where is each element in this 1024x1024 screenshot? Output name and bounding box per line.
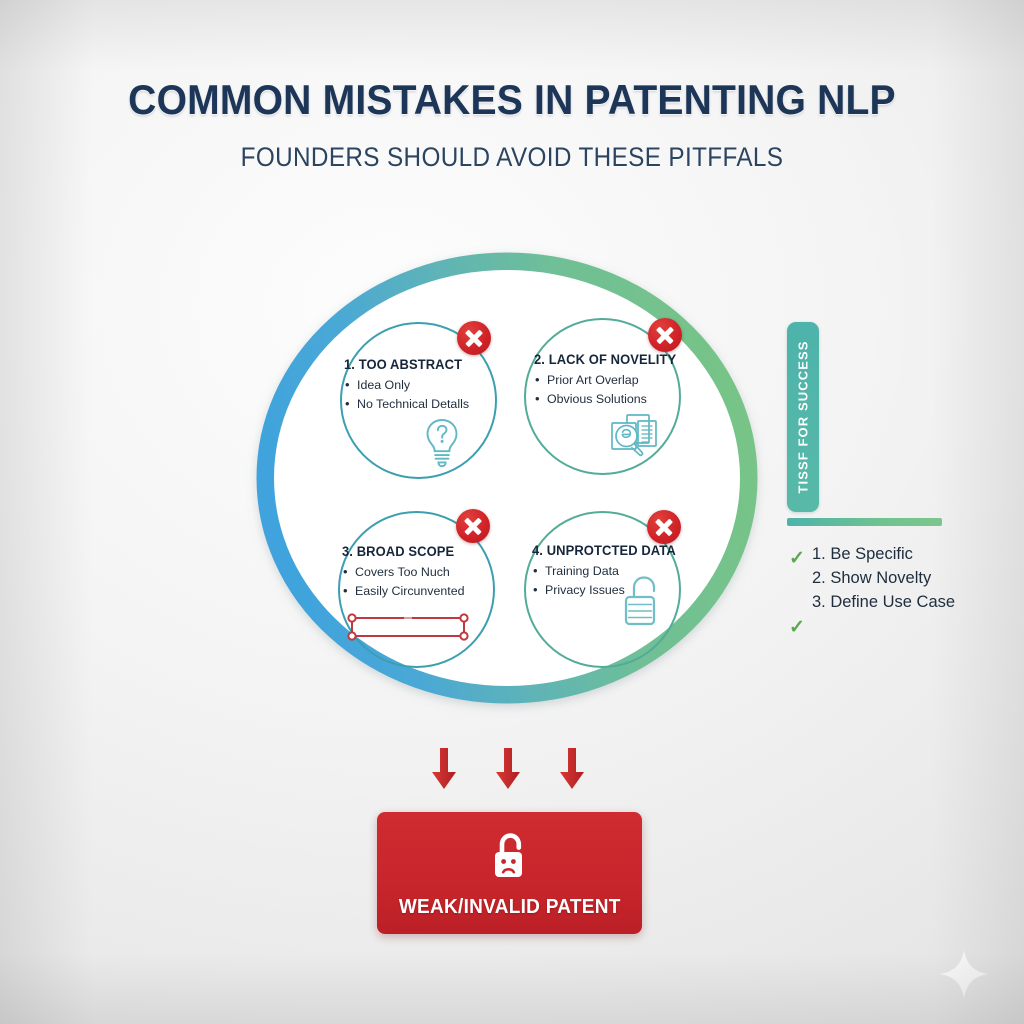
- mistake-block-3: 3. BROAD SCOPE Covers Too Nuch Easily Ci…: [342, 544, 526, 601]
- x-badge-icon-1: [457, 321, 491, 355]
- infographic-canvas: COMMON MISTAKES IN PATENTING NLP FOUNDER…: [0, 0, 1024, 1024]
- mistake-bullets-1: Idea Only No Technical Detalls: [344, 376, 528, 414]
- mistake-title-3: 3. BROAD SCOPE: [342, 544, 519, 559]
- tips-divider-bar: [787, 518, 942, 526]
- lightbulb-question-icon: [422, 416, 462, 473]
- x-badge-icon-2: [648, 318, 682, 352]
- tips-list: 1. Be Specific 2. Show Novelty 3. Define…: [812, 543, 955, 615]
- mistake-title-4: 4. UNPROTCTED DATA: [532, 543, 709, 558]
- check-icon-top: ✓: [789, 549, 805, 568]
- four-point-star-icon: [938, 948, 990, 1005]
- document-magnifier-icon: [608, 412, 660, 467]
- list-item: Covers Too Nuch: [342, 563, 526, 582]
- down-arrow-icon-2: [495, 748, 521, 790]
- list-item: Easily Circunvented: [342, 582, 526, 601]
- mistake-block-1: 1. TOO ABSTRACT Idea Only No Technical D…: [344, 357, 528, 414]
- banner-label: WEAK/INVALID PATENT: [399, 896, 621, 919]
- list-item: Obvious Solutions: [534, 390, 718, 409]
- weak-invalid-patent-banner: WEAK/INVALID PATENT: [377, 812, 642, 934]
- list-item: No Technical Detalls: [344, 395, 528, 414]
- header: COMMON MISTAKES IN PATENTING NLP FOUNDER…: [0, 76, 1024, 173]
- mistake-title-1: 1. TOO ABSTRACT: [344, 357, 521, 372]
- list-item: Idea Only: [344, 376, 528, 395]
- mistake-bullets-2: Prior Art Overlap Obvious Solutions: [534, 371, 718, 409]
- tips-for-success-tab[interactable]: TISSF FOR SUCCESS: [787, 322, 819, 512]
- list-item: 1. Be Specific: [812, 543, 955, 567]
- mistake-block-2: 2. LACK OF NOVELITY Prior Art Overlap Ob…: [534, 352, 718, 409]
- open-padlock-icon: [620, 572, 664, 635]
- list-item: Prior Art Overlap: [534, 371, 718, 390]
- check-icon-bottom: ✓: [789, 618, 805, 637]
- page-subtitle: FOUNDERS SHOULD AVOID THESE PITFFALS: [51, 142, 973, 173]
- mistake-bullets-3: Covers Too Nuch Easily Circunvented: [342, 563, 526, 601]
- selection-box-icon: [346, 612, 470, 647]
- list-item: 3. Define Use Case: [812, 591, 955, 615]
- x-badge-icon-4: [647, 510, 681, 544]
- list-item: 2. Show Novelty: [812, 567, 955, 591]
- mistake-title-2: 2. LACK OF NOVELITY: [534, 352, 711, 367]
- sad-open-padlock-icon: [487, 830, 533, 887]
- page-title: COMMON MISTAKES IN PATENTING NLP: [36, 76, 988, 124]
- tips-tab-label: TISSF FOR SUCCESS: [796, 340, 811, 493]
- down-arrow-icon-3: [559, 748, 585, 790]
- down-arrow-icon-1: [431, 748, 457, 790]
- gradient-ring: [256, 252, 758, 704]
- x-badge-icon-3: [456, 509, 490, 543]
